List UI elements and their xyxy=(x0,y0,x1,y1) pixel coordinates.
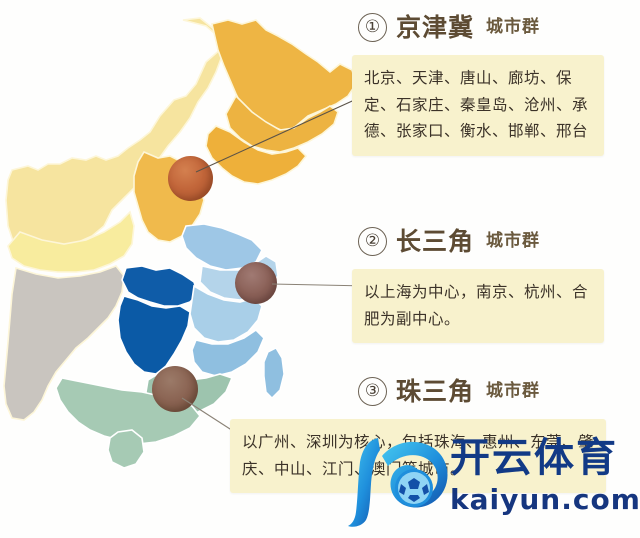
marker-jingjinji[interactable] xyxy=(168,156,213,201)
region-taiwan xyxy=(264,348,284,398)
section-3-body-text: 以广州、深圳为核心，包括珠海、惠州、东莞、肇庆、中山、江门、澳门等城市。 xyxy=(242,429,594,482)
section-jingjinji: ① 京津冀 城市群 北京、天津、唐山、廊坊、保定、石家庄、秦皇岛、沧州、承德、张… xyxy=(352,8,640,156)
section-1-body-text: 北京、天津、唐山、廊坊、保定、石家庄、秦皇岛、沧州、承德、张家口、衡水、邯郸、邢… xyxy=(364,65,592,145)
section-3-body-box: 以广州、深圳为核心，包括珠海、惠州、东莞、肇庆、中山、江门、澳门等城市。 xyxy=(230,419,606,493)
section-changsanjiao: ② 长三角 城市群 以上海为中心，南京、杭州、合肥为副中心。 xyxy=(352,222,640,343)
region-hainan xyxy=(108,430,144,468)
section-3-number: ③ xyxy=(358,377,387,406)
region-hunan xyxy=(118,296,190,374)
section-2-header: ② 长三角 城市群 xyxy=(352,222,640,260)
section-1-title: 京津冀 xyxy=(396,15,474,40)
section-1-body-box: 北京、天津、唐山、廊坊、保定、石家庄、秦皇岛、沧州、承德、张家口、衡水、邯郸、邢… xyxy=(352,55,604,156)
section-1-number: ① xyxy=(358,13,387,42)
section-2-number: ② xyxy=(358,227,387,256)
section-2-title: 长三角 xyxy=(396,229,474,254)
section-1-subtitle: 城市群 xyxy=(486,19,540,36)
section-2-body-box: 以上海为中心，南京、杭州、合肥为副中心。 xyxy=(352,269,604,343)
legend-panel: ① 京津冀 城市群 北京、天津、唐山、廊坊、保定、石家庄、秦皇岛、沧州、承德、张… xyxy=(352,0,640,538)
marker-zhusanjiao[interactable] xyxy=(152,366,198,412)
section-3-header: ③ 珠三角 城市群 xyxy=(352,372,640,410)
infographic-root: ① 京津冀 城市群 北京、天津、唐山、廊坊、保定、石家庄、秦皇岛、沧州、承德、张… xyxy=(0,0,640,538)
section-3-title: 珠三角 xyxy=(396,379,474,404)
section-zhusanjiao: ③ 珠三角 城市群 以广州、深圳为核心，包括珠海、惠州、东莞、肇庆、中山、江门、… xyxy=(352,372,640,493)
section-1-header: ① 京津冀 城市群 xyxy=(352,8,640,46)
section-2-subtitle: 城市群 xyxy=(486,233,540,250)
section-2-body-text: 以上海为中心，南京、杭州、合肥为副中心。 xyxy=(364,279,592,332)
marker-changsanjiao[interactable] xyxy=(235,262,277,304)
section-3-subtitle: 城市群 xyxy=(486,383,540,400)
